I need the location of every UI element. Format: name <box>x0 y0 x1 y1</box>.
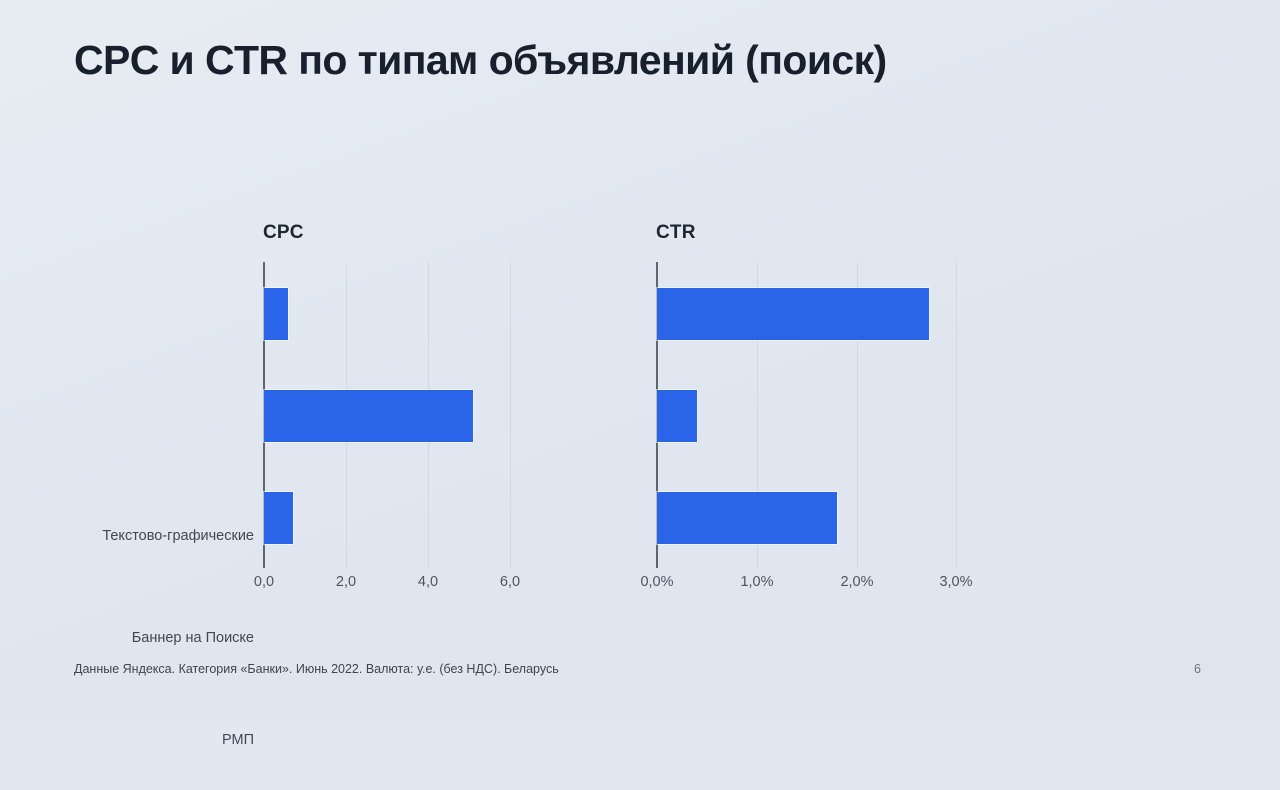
category-label: Баннер на Поиске <box>14 630 254 646</box>
bar-ctr-0[interactable] <box>657 288 929 340</box>
slide-canvas: CPC и CTR по типам объявлений (поиск) CP… <box>0 0 1280 720</box>
tick-label: 3,0% <box>939 574 972 590</box>
bar-cpc-0[interactable] <box>264 288 288 340</box>
tick-label: 1,0% <box>740 574 773 590</box>
bar-ctr-1[interactable] <box>657 390 697 442</box>
bar-cpc-2[interactable] <box>264 492 293 544</box>
tick-label: 0,0 <box>254 574 274 590</box>
axis-ticks-cpc: 0,0 2,0 4,0 6,0 <box>264 574 552 596</box>
tick-label: 0,0% <box>640 574 673 590</box>
category-label: РМП <box>14 732 254 748</box>
source-note: Данные Яндекса. Категория «Банки». Июнь … <box>74 662 559 676</box>
plot-area-cpc <box>264 262 552 568</box>
tick-label: 6,0 <box>500 574 520 590</box>
bar-ctr-2[interactable] <box>657 492 837 544</box>
tick-label: 4,0 <box>418 574 438 590</box>
plot-area-ctr <box>657 262 987 568</box>
chart-title-cpc: CPC <box>263 222 304 244</box>
page-number: 6 <box>1194 662 1201 676</box>
page-title: CPC и CTR по типам объявлений (поиск) <box>74 37 887 84</box>
chart-title-ctr: CTR <box>656 222 696 244</box>
tick-label: 2,0% <box>840 574 873 590</box>
gridline-ctr-3 <box>956 262 957 568</box>
bar-cpc-1[interactable] <box>264 390 473 442</box>
axis-ticks-ctr: 0,0% 1,0% 2,0% 3,0% <box>657 574 987 596</box>
gridline-cpc-6 <box>510 262 511 568</box>
category-labels-cpc: Текстово-графические Баннер на Поиске РМ… <box>14 484 254 790</box>
category-label: Текстово-графические <box>14 528 254 544</box>
tick-label: 2,0 <box>336 574 356 590</box>
